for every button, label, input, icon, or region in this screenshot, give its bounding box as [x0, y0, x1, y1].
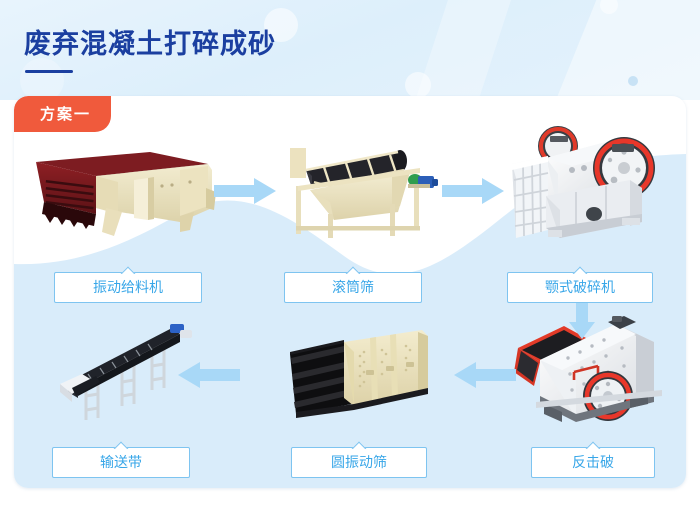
label-trommel-screen: 滚筒筛 [284, 272, 422, 303]
arrow-feeder-to-trommel [214, 176, 278, 206]
label-jaw-crusher: 颚式破碎机 [507, 272, 653, 303]
label-text: 输送带 [100, 455, 142, 471]
header-diagonal-highlight [542, 0, 700, 100]
circular-vibrating-screen-icon [282, 326, 434, 426]
label-text: 圆振动筛 [331, 455, 387, 471]
page-header: 废弃混凝土打碎成砂 [0, 0, 700, 100]
arrow-screen-to-conveyor [176, 360, 240, 390]
label-notch-icon [572, 266, 588, 274]
label-text: 颚式破碎机 [545, 280, 615, 296]
vibrating-feeder-icon [30, 136, 220, 246]
label-notch-icon [120, 266, 136, 274]
scheme-card: 方案一 [14, 96, 686, 488]
label-conveyor-belt: 输送带 [52, 447, 190, 478]
label-notch-icon [351, 441, 367, 449]
label-text: 振动给料机 [93, 280, 163, 296]
label-notch-icon [113, 441, 129, 449]
label-impact-crusher: 反击破 [531, 447, 655, 478]
header-bubble-decoration [20, 58, 64, 100]
infographic-page: 废弃混凝土打碎成砂 方案一 [0, 0, 700, 507]
jaw-crusher-icon [502, 118, 670, 248]
page-title: 废弃混凝土打碎成砂 [24, 22, 276, 61]
scheme-badge: 方案一 [14, 96, 111, 132]
label-circular-vibrating-screen: 圆振动筛 [291, 447, 427, 478]
arrow-trommel-to-jaw [442, 176, 506, 206]
label-text: 滚筒筛 [332, 280, 374, 296]
label-vibrating-feeder: 振动给料机 [54, 272, 202, 303]
title-underline [25, 70, 73, 73]
arrow-impact-to-screen [452, 360, 516, 390]
label-text: 反击破 [572, 455, 614, 471]
label-notch-icon [585, 441, 601, 449]
header-bubble-decoration [628, 76, 638, 86]
header-bubble-decoration [405, 72, 431, 98]
trommel-screen-icon [272, 140, 444, 246]
label-notch-icon [345, 266, 361, 274]
